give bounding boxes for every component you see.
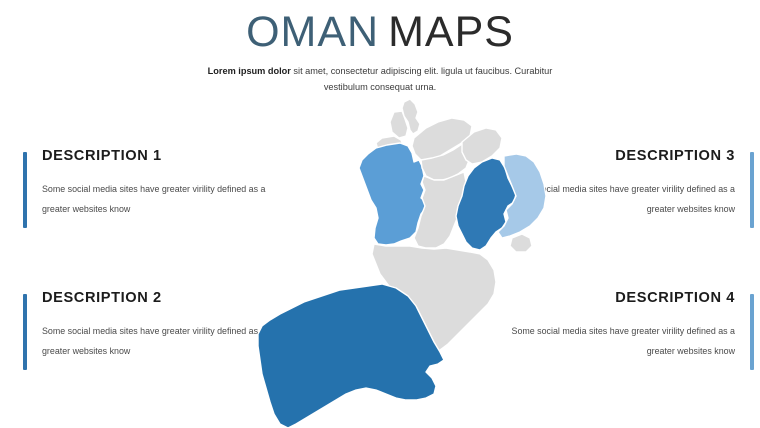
description-block-2[interactable]: DESCRIPTION 2 Some social media sites ha…	[23, 290, 277, 361]
map-region-al-dhahirah[interactable]	[359, 143, 426, 245]
page-title: OMANMAPS	[0, 8, 760, 57]
description-body-2: Some social media sites have greater vir…	[42, 321, 277, 361]
subtitle-lead: Lorem ipsum dolor	[208, 66, 291, 76]
accent-bar-3	[750, 152, 754, 228]
description-body-1: Some social media sites have greater vir…	[42, 179, 277, 219]
map-region-dhofar[interactable]	[258, 284, 444, 428]
accent-bar-2	[23, 294, 27, 370]
description-title-2: DESCRIPTION 2	[42, 290, 277, 307]
subtitle-rest: sit amet, consectetur adipiscing elit. l…	[291, 66, 552, 92]
description-title-1: DESCRIPTION 1	[42, 148, 277, 165]
page-title-primary: OMAN	[246, 8, 379, 56]
oman-map[interactable]	[258, 98, 558, 428]
accent-bar-1	[23, 152, 27, 228]
description-block-1[interactable]: DESCRIPTION 1 Some social media sites ha…	[23, 148, 277, 219]
accent-bar-4	[750, 294, 754, 370]
slide-canvas: OMANMAPS Lorem ipsum dolor sit amet, con…	[0, 0, 760, 428]
map-region-sharqiyah-tip[interactable]	[510, 234, 532, 252]
page-title-secondary: MAPS	[388, 8, 514, 56]
subtitle-paragraph: Lorem ipsum dolor sit amet, consectetur …	[190, 63, 570, 95]
